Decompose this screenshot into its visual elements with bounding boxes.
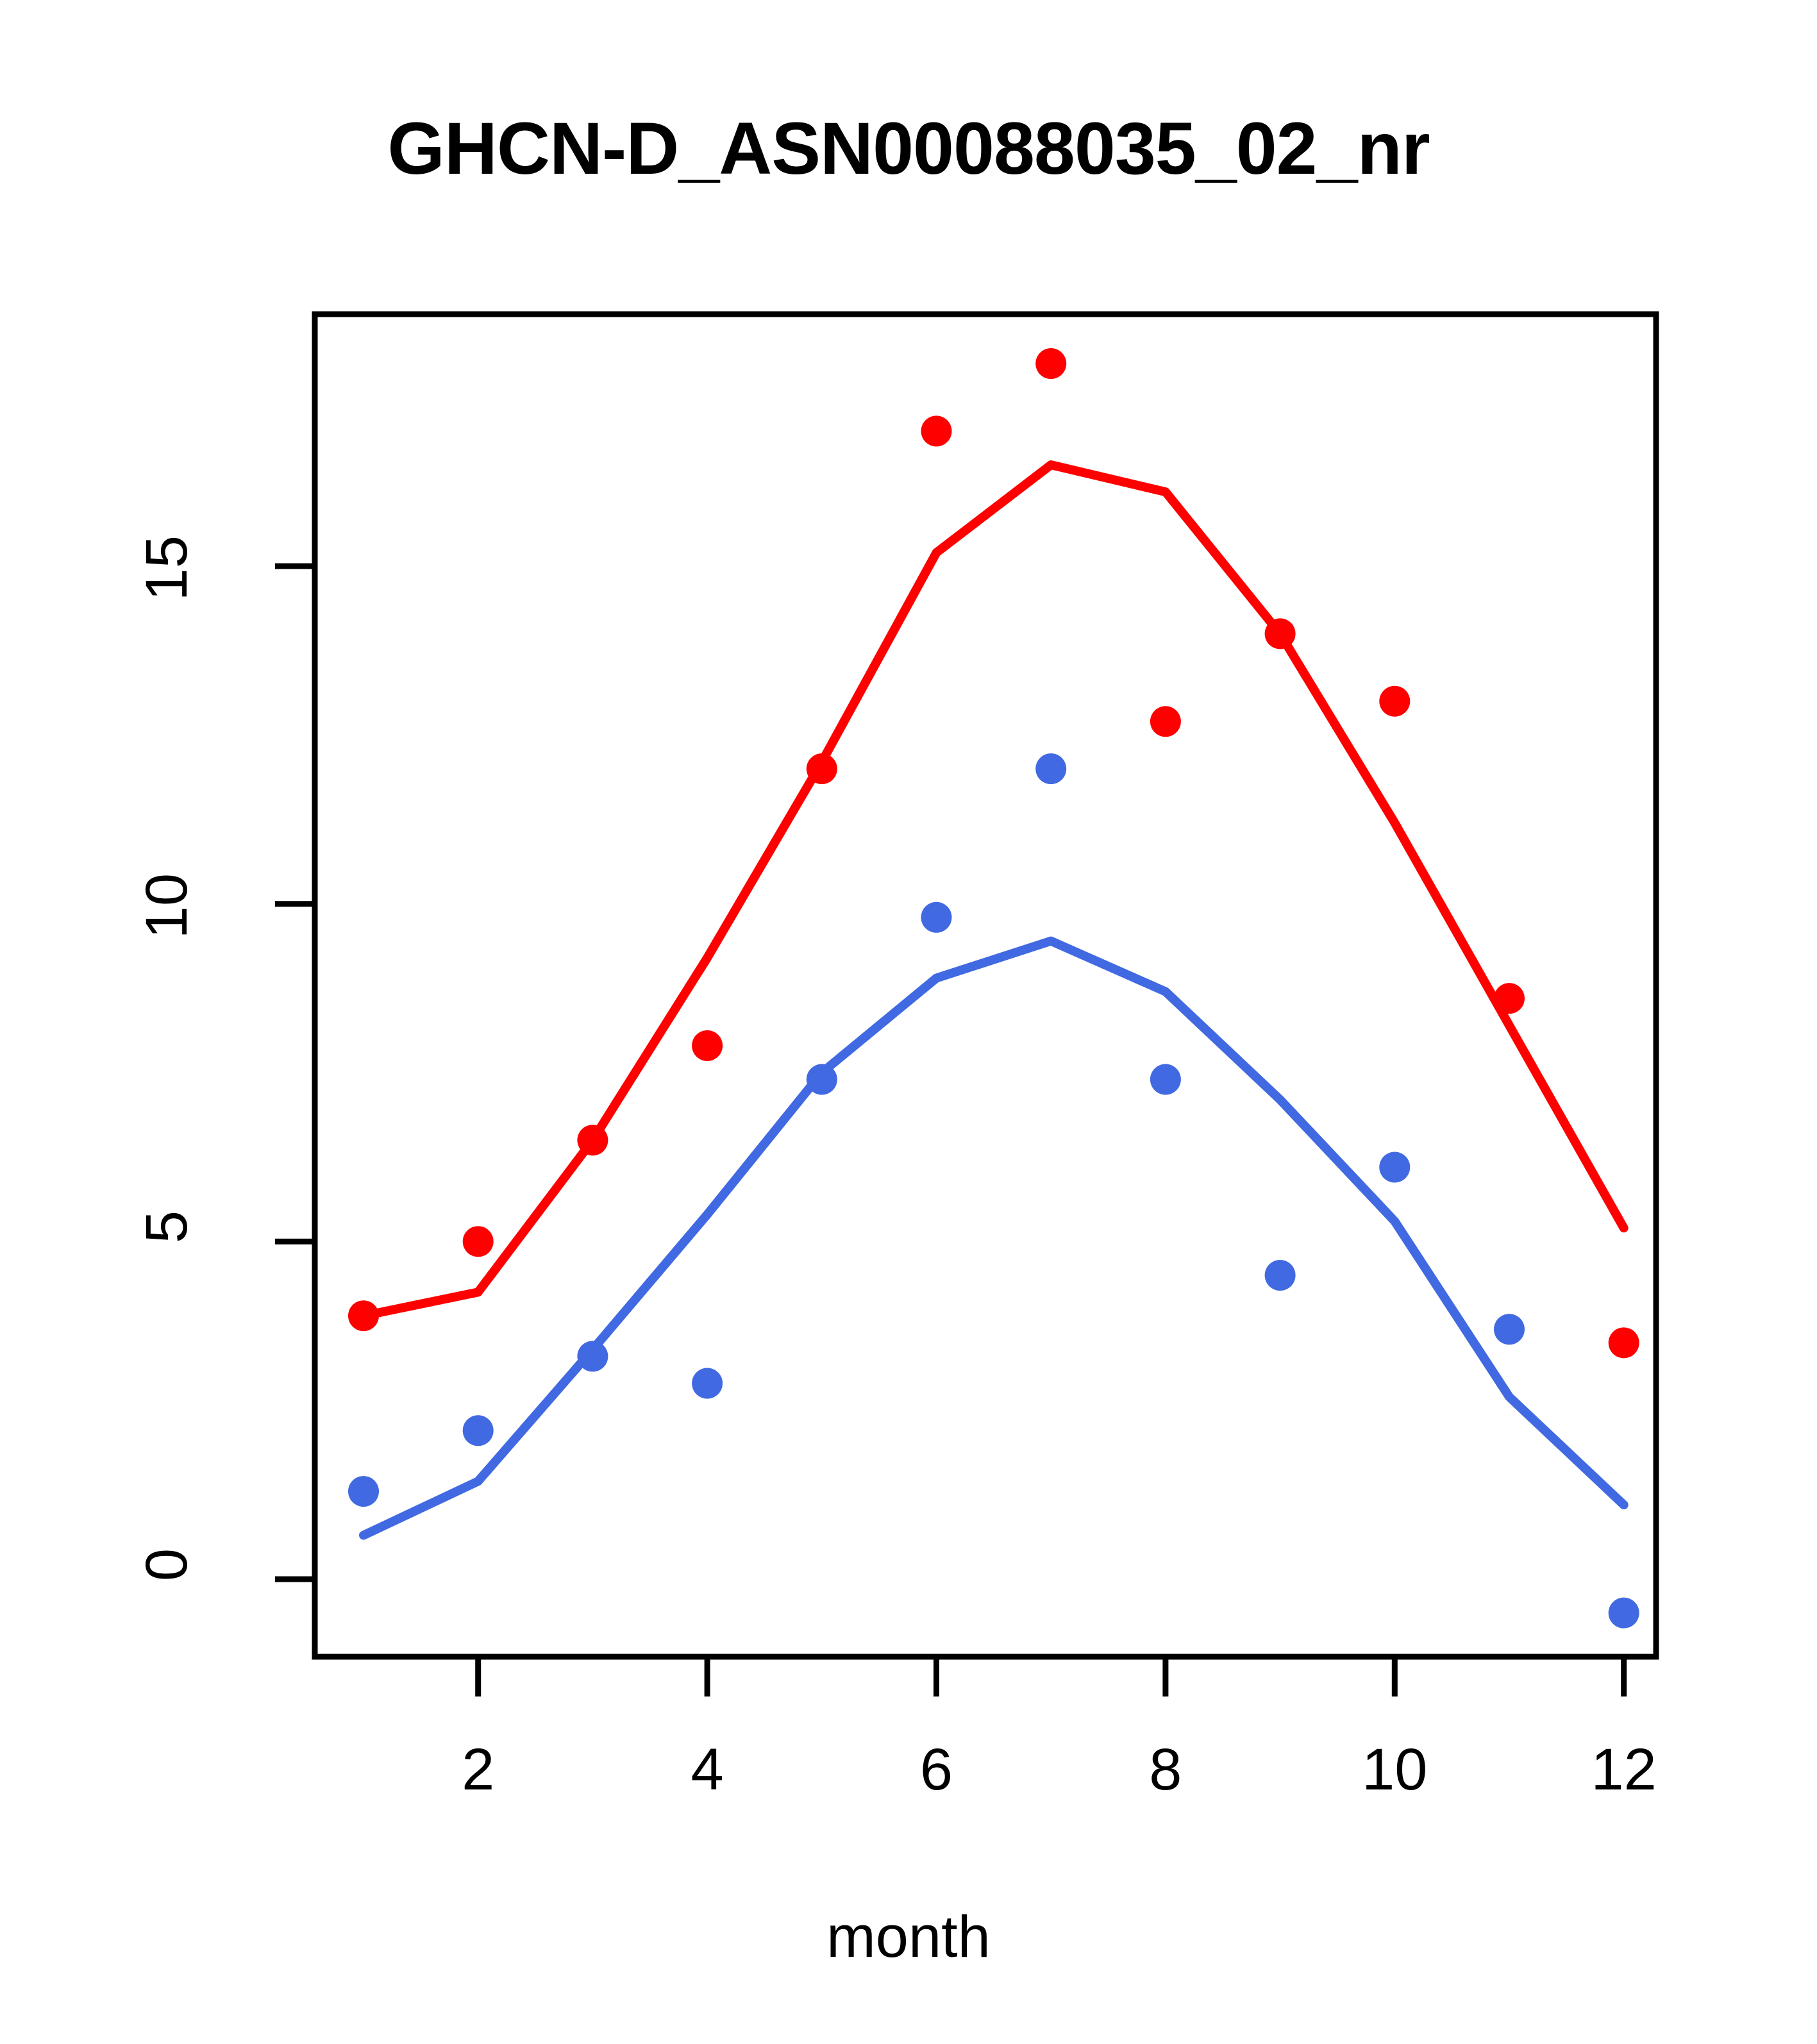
data-point	[1379, 686, 1410, 717]
data-point	[692, 1368, 723, 1399]
data-point	[1035, 348, 1066, 379]
data-point	[692, 1030, 723, 1061]
data-point	[1150, 1064, 1181, 1095]
x-axis-tick-label: 10	[1298, 1740, 1491, 1799]
x-axis-tick-label: 4	[611, 1740, 803, 1799]
data-point	[1265, 618, 1296, 649]
y-axis-tick-label: 5	[137, 1210, 196, 1454]
data-point	[577, 1125, 608, 1155]
series-line-normal-maximum	[364, 465, 1624, 1316]
data-point	[1494, 1314, 1525, 1345]
series-group	[348, 348, 1639, 1629]
data-point	[348, 1476, 379, 1507]
data-point	[577, 1341, 608, 1371]
data-point	[1265, 1260, 1296, 1291]
y-axis-tick-label: 10	[137, 873, 196, 1117]
data-point	[807, 1064, 837, 1095]
y-axis-tick-label: 15	[137, 535, 196, 779]
data-point	[348, 1300, 379, 1331]
data-point	[807, 753, 837, 784]
y-axis-tick-label: 0	[137, 1548, 196, 1792]
axis-group	[275, 314, 1656, 1696]
data-point	[921, 415, 952, 446]
data-point	[1609, 1327, 1639, 1358]
x-axis-tick-label: 6	[841, 1740, 1033, 1799]
plot-canvas	[0, 0, 1817, 2044]
data-point	[463, 1226, 494, 1257]
x-axis-tick-label: 2	[382, 1740, 574, 1799]
data-point	[921, 902, 952, 933]
data-point	[1035, 753, 1066, 784]
x-axis-title: month	[0, 1907, 1817, 1966]
data-point	[1379, 1152, 1410, 1182]
series-line-normal-minimum	[364, 941, 1624, 1536]
data-point	[1494, 983, 1525, 1014]
x-axis-tick-label: 12	[1528, 1740, 1720, 1799]
x-axis-tick-label: 8	[1069, 1740, 1262, 1799]
data-point	[463, 1415, 494, 1446]
data-point	[1150, 706, 1181, 737]
data-point	[1609, 1598, 1639, 1629]
chart-figure: GHCN-D_ASN00088035_02_nr 051015 24681012…	[0, 0, 1817, 2044]
